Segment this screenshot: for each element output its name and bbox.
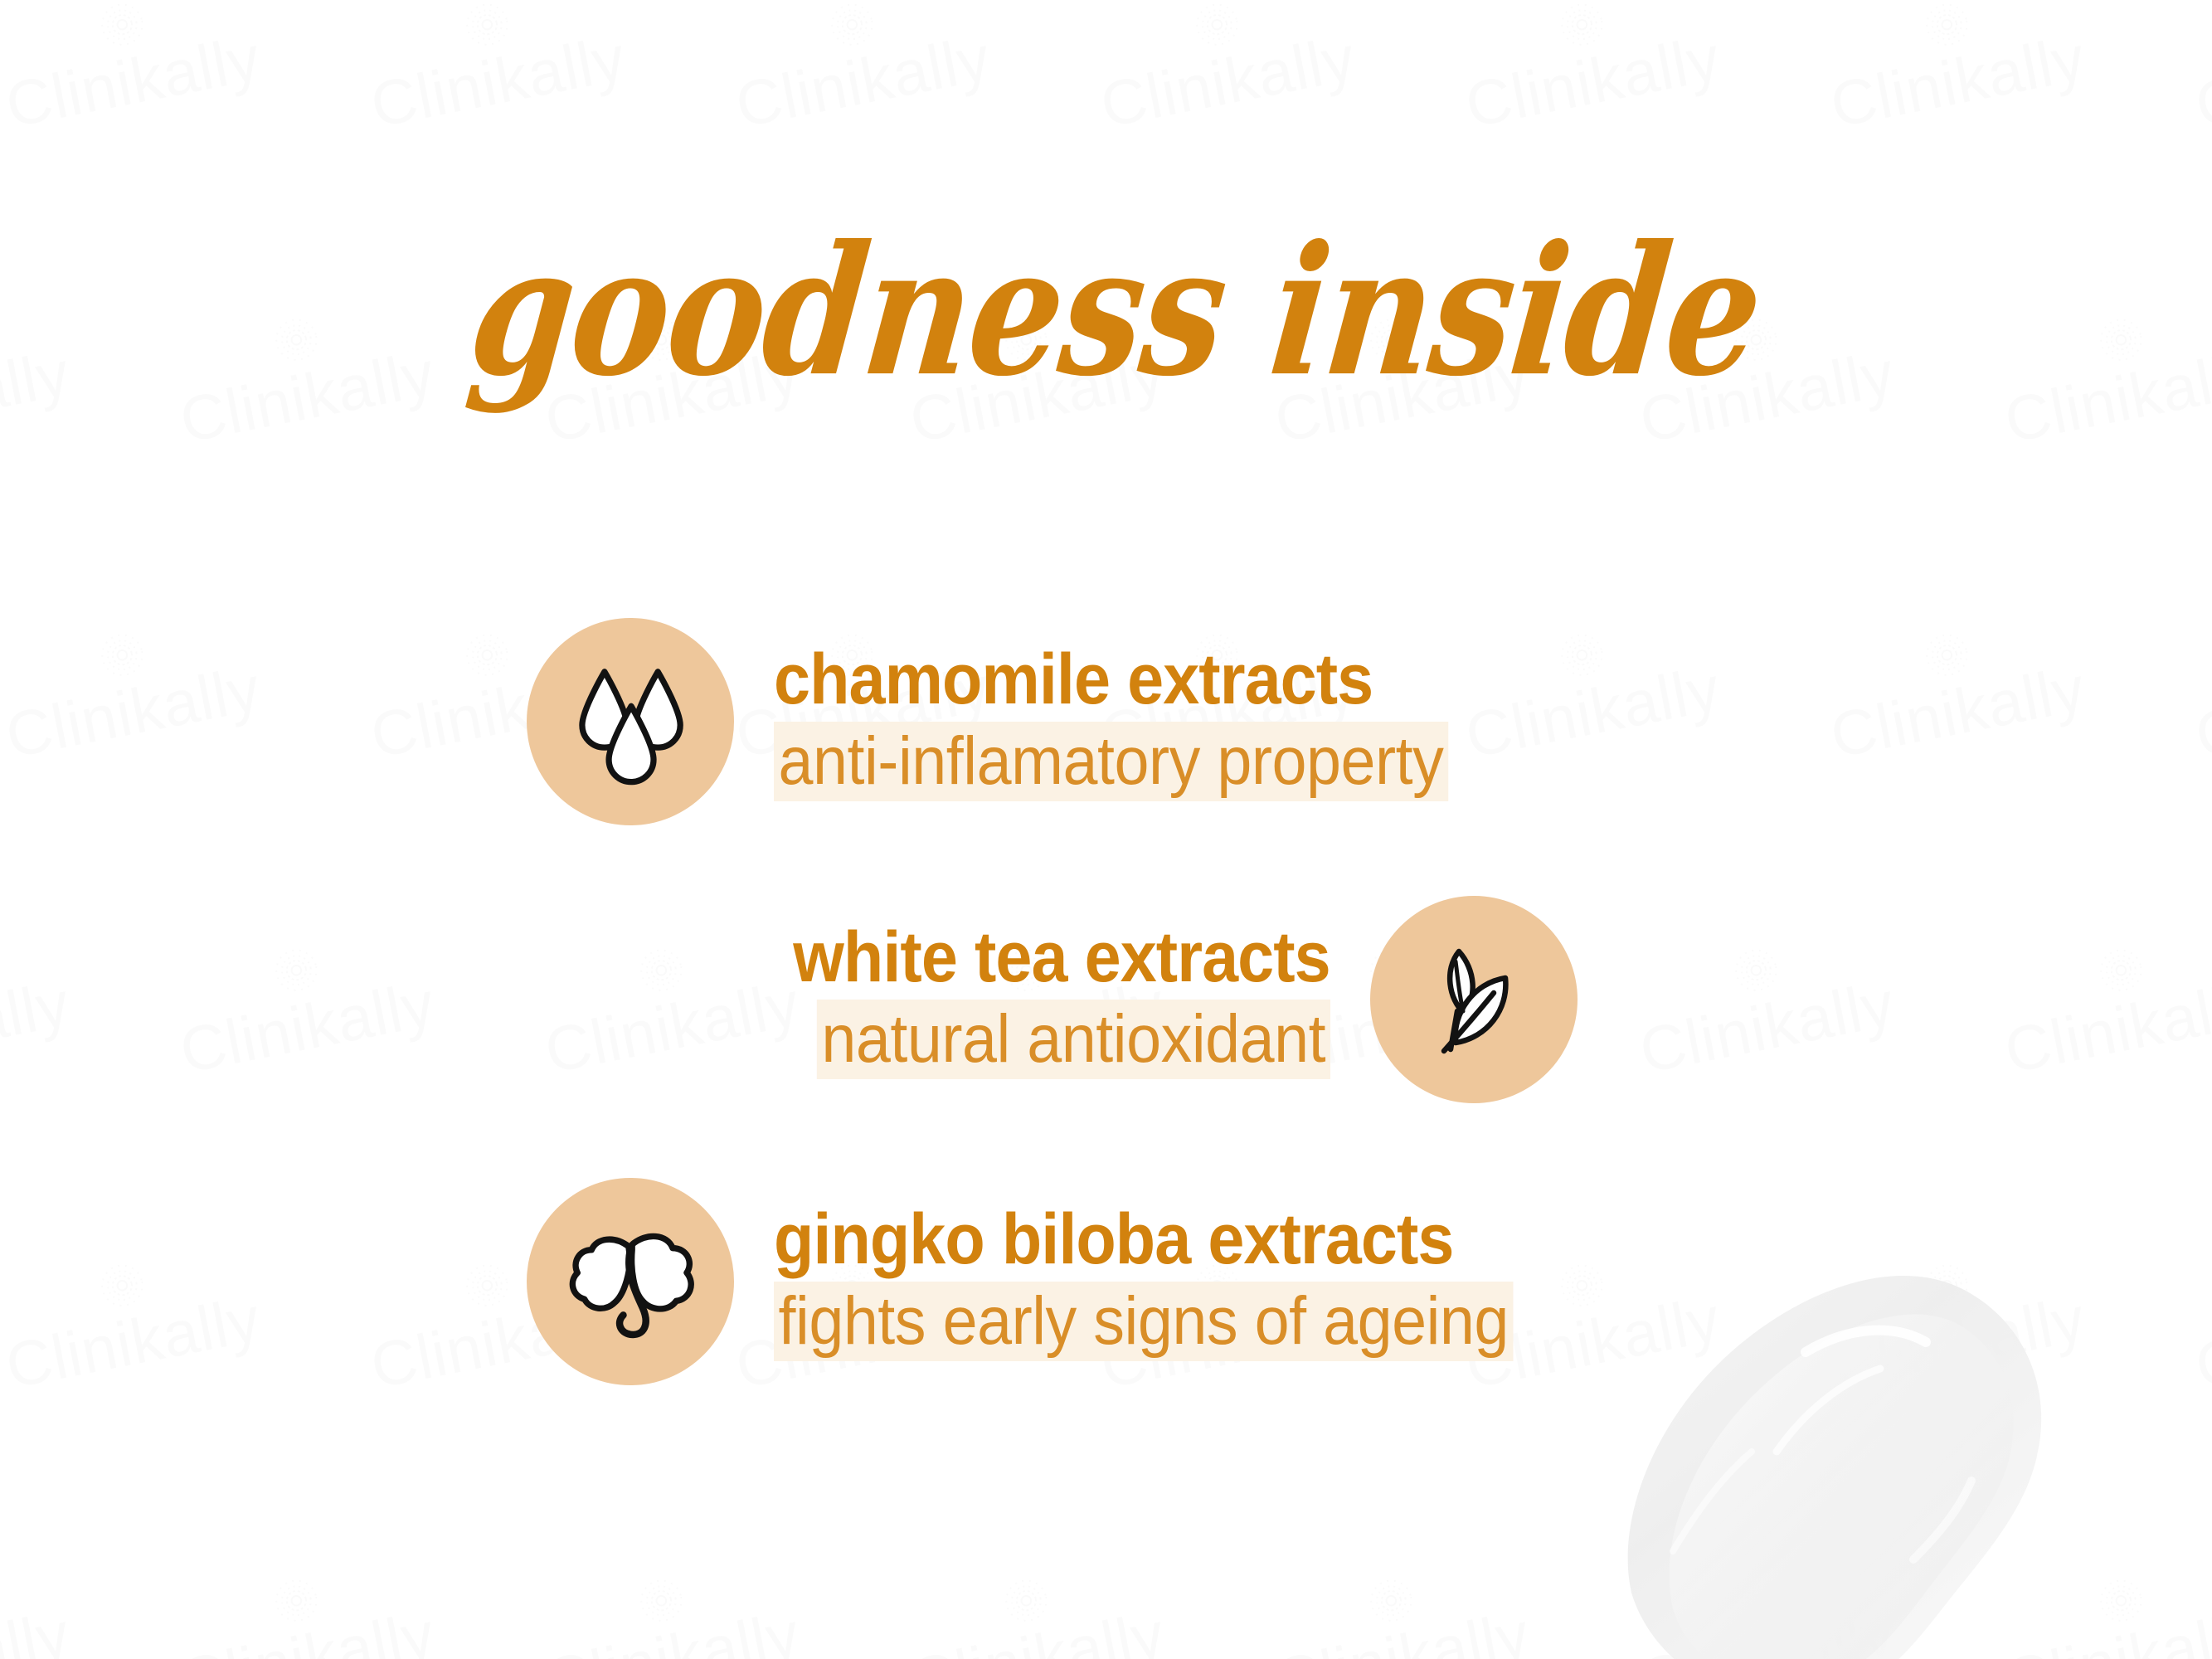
ingredient-benefit: anti-inflamatory property (774, 722, 1448, 801)
ginkgo-leaf-icon (527, 1178, 734, 1385)
ingredient-benefit: fights early signs of ageing (774, 1282, 1513, 1361)
ingredient-copy: white tea extracts natural antioxidant (746, 920, 1330, 1079)
two-leaves-icon (1370, 896, 1578, 1103)
water-drops-icon (527, 618, 734, 825)
ingredient-row: chamomile extracts anti-inflamatory prop… (527, 618, 1507, 825)
ingredient-row: white tea extracts natural antioxidant (746, 896, 1578, 1103)
ingredient-benefit: natural antioxidant (817, 1000, 1330, 1079)
ingredient-copy: gingko biloba extracts fights early sign… (774, 1202, 1578, 1361)
ingredient-name: chamomile extracts (774, 642, 1373, 717)
ingredient-name: white tea extracts (793, 920, 1330, 995)
ingredient-name: gingko biloba extracts (774, 1202, 1453, 1277)
page-title-text: goodness inside (463, 221, 1768, 400)
goodness-inside-infographic: ClinikallyClinikallyClinikallyClinikally… (0, 0, 2212, 1659)
ingredient-copy: chamomile extracts anti-inflamatory prop… (774, 642, 1507, 801)
page-title: goodness inside (0, 249, 2212, 400)
ingredient-row: gingko biloba extracts fights early sign… (527, 1178, 1578, 1385)
